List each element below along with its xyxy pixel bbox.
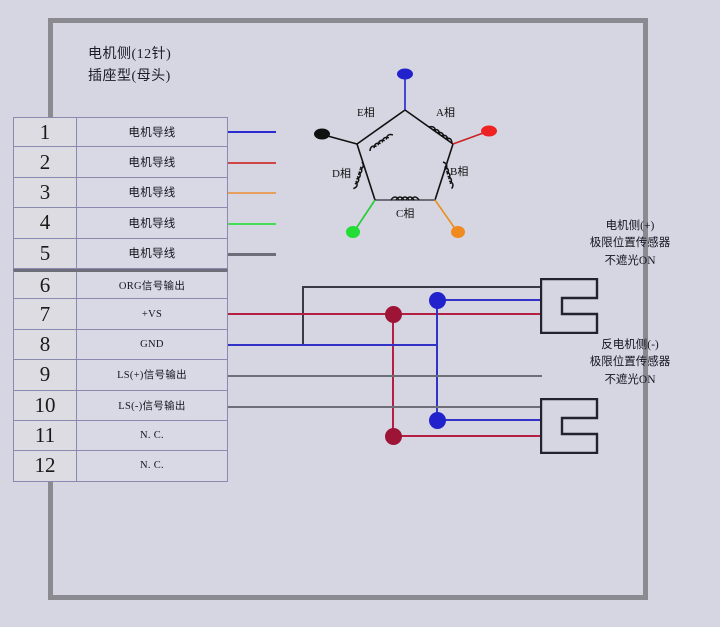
pin-label: +VS bbox=[77, 299, 227, 328]
table-row: 5 电机导线 bbox=[13, 239, 228, 269]
table-row: 8 GND bbox=[13, 330, 228, 360]
terminal-blue bbox=[397, 69, 413, 80]
table-row: 1 电机导线 bbox=[13, 117, 228, 147]
wire-gnd-lower-to-sensor bbox=[436, 419, 542, 421]
terminal-red bbox=[481, 126, 497, 137]
pin-label: N. C. bbox=[77, 451, 227, 480]
pin-label: 电机导线 bbox=[77, 118, 227, 146]
vs-node-lower bbox=[385, 428, 402, 445]
wire-pin8-gnd-bus bbox=[228, 344, 438, 346]
wire-pin10-ls-negative bbox=[228, 406, 542, 408]
pin-table: 1 电机导线 2 电机导线 3 电机导线 4 电机导线 5 电机导线 6 ORG… bbox=[13, 117, 228, 482]
connector-title-line-1: 电机侧(12针) bbox=[88, 44, 288, 66]
wire-gnd-upper-to-sensor bbox=[436, 299, 542, 301]
pin-label: 电机导线 bbox=[77, 178, 227, 207]
pin-number: 10 bbox=[14, 391, 77, 420]
pin-label: GND bbox=[77, 330, 227, 359]
limit-sensor-positive-body bbox=[540, 278, 602, 339]
terminal-green bbox=[346, 226, 360, 238]
pin-number: 5 bbox=[14, 239, 77, 268]
pin-number: 4 bbox=[14, 208, 77, 237]
pin-number: 3 bbox=[14, 178, 77, 207]
diagram-canvas: 电机侧(12针) 插座型(母头) 1 电机导线 2 电机导线 3 电机导线 4 … bbox=[0, 0, 720, 627]
connector-title: 电机侧(12针) 插座型(母头) bbox=[88, 44, 288, 87]
pin-label: LS(+)信号输出 bbox=[77, 360, 227, 389]
wire-pin1-motor bbox=[228, 131, 276, 133]
pin-number: 9 bbox=[14, 360, 77, 389]
table-row: 4 电机导线 bbox=[13, 208, 228, 238]
wire-pin3-motor bbox=[228, 192, 276, 194]
table-row: 2 电机导线 bbox=[13, 147, 228, 177]
wire-pin2-motor bbox=[228, 162, 276, 164]
pin-number: 2 bbox=[14, 147, 77, 176]
table-row: 9 LS(+)信号输出 bbox=[13, 360, 228, 390]
pin-label: N. C. bbox=[77, 421, 227, 450]
sensor-neg-line-1: 反电机侧(-) bbox=[555, 337, 705, 354]
wire-pin9-ls-positive bbox=[228, 375, 542, 377]
wire-pin5-motor bbox=[228, 253, 276, 256]
phase-label-b: B相 bbox=[450, 163, 468, 179]
sensor-pos-line-1: 电机侧(+) bbox=[555, 218, 705, 235]
table-row: 3 电机导线 bbox=[13, 178, 228, 208]
pin-label: 电机导线 bbox=[77, 239, 227, 268]
phase-label-a: A相 bbox=[436, 104, 455, 120]
wire-vs-lower-to-sensor bbox=[392, 435, 542, 437]
connector-title-line-2: 插座型(母头) bbox=[88, 66, 288, 88]
table-row: 11 N. C. bbox=[13, 421, 228, 451]
table-row: 6 ORG信号输出 bbox=[13, 269, 228, 299]
gnd-node-upper bbox=[429, 292, 446, 309]
wire-pin4-motor bbox=[228, 223, 276, 225]
table-row: 7 +VS bbox=[13, 299, 228, 329]
phase-label-d: D相 bbox=[332, 165, 351, 181]
terminal-black bbox=[314, 129, 330, 140]
pin-number: 1 bbox=[14, 118, 77, 146]
wire-pin6-org-to-sensor bbox=[302, 286, 542, 288]
phase-label-c: C相 bbox=[396, 205, 414, 221]
pin-number: 6 bbox=[14, 272, 77, 298]
table-row: 10 LS(-)信号输出 bbox=[13, 391, 228, 421]
phase-label-e: E相 bbox=[357, 104, 375, 120]
limit-sensor-positive-label: 电机侧(+) 极限位置传感器 不遮光ON bbox=[555, 218, 705, 270]
sensor-neg-line-3: 不遮光ON bbox=[555, 372, 705, 389]
wire-pin6-org-vertical bbox=[302, 286, 304, 346]
limit-sensor-negative-body bbox=[540, 398, 602, 459]
pin-label: 电机导线 bbox=[77, 147, 227, 176]
vs-node-upper bbox=[385, 306, 402, 323]
wire-gnd-branch-down bbox=[436, 344, 438, 420]
limit-sensor-negative-label: 反电机侧(-) 极限位置传感器 不遮光ON bbox=[555, 337, 705, 389]
sensor-pos-line-2: 极限位置传感器 bbox=[555, 235, 705, 252]
pin-label: 电机导线 bbox=[77, 208, 227, 237]
pin-number: 8 bbox=[14, 330, 77, 359]
pin-label: ORG信号输出 bbox=[77, 272, 227, 298]
gnd-node-lower bbox=[429, 412, 446, 429]
table-row: 12 N. C. bbox=[13, 451, 228, 481]
terminal-orange bbox=[451, 226, 465, 238]
pin-number: 7 bbox=[14, 299, 77, 328]
pin-number: 12 bbox=[14, 451, 77, 480]
pin-number: 11 bbox=[14, 421, 77, 450]
sensor-neg-line-2: 极限位置传感器 bbox=[555, 354, 705, 371]
motor-winding-pentagon: A相 B相 C相 D相 E相 bbox=[310, 62, 500, 242]
pin-label: LS(-)信号输出 bbox=[77, 391, 227, 420]
sensor-pos-line-3: 不遮光ON bbox=[555, 253, 705, 270]
